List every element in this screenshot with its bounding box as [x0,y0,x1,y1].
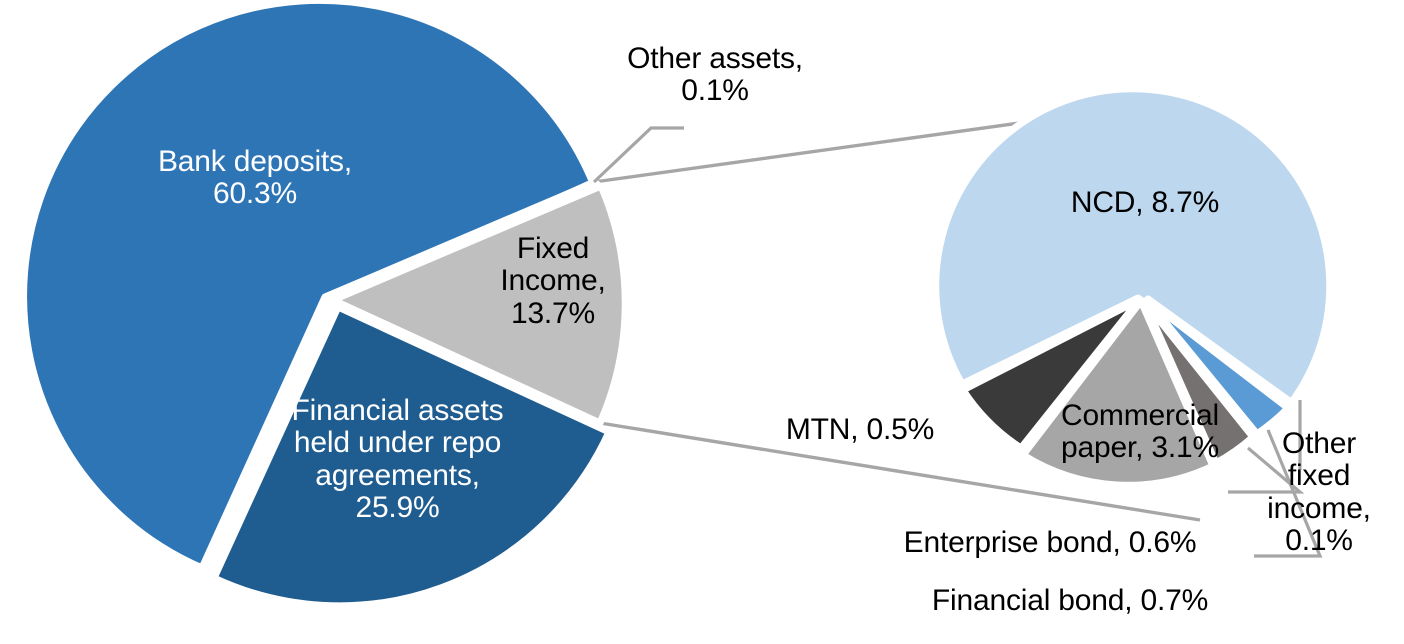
label-other-fixed-income: Other fixed income, 0.1% [1258,428,1380,558]
label-mtn: MTN, 0.5% [770,414,950,446]
pie-of-pie-chart: Bank deposits, 60.3% Financial assets he… [0,0,1404,644]
label-commercial-paper: Commercial paper, 3.1% [1040,400,1240,465]
label-other-assets: Other assets, 0.1% [600,43,830,108]
leader-line-other-assets [594,128,684,182]
label-enterprise-bond: Enterprise bond, 0.6% [874,527,1226,559]
label-bank-deposits: Bank deposits, 60.3% [120,146,390,211]
label-repo-agreements: Financial assets held under repo agreeme… [255,395,540,525]
label-ncd: NCD, 8.7% [1050,187,1240,219]
other-assets-leader [594,128,684,182]
label-fixed-income: Fixed Income, 13.7% [478,233,628,330]
label-financial-bond: Financial bond, 0.7% [900,585,1240,617]
